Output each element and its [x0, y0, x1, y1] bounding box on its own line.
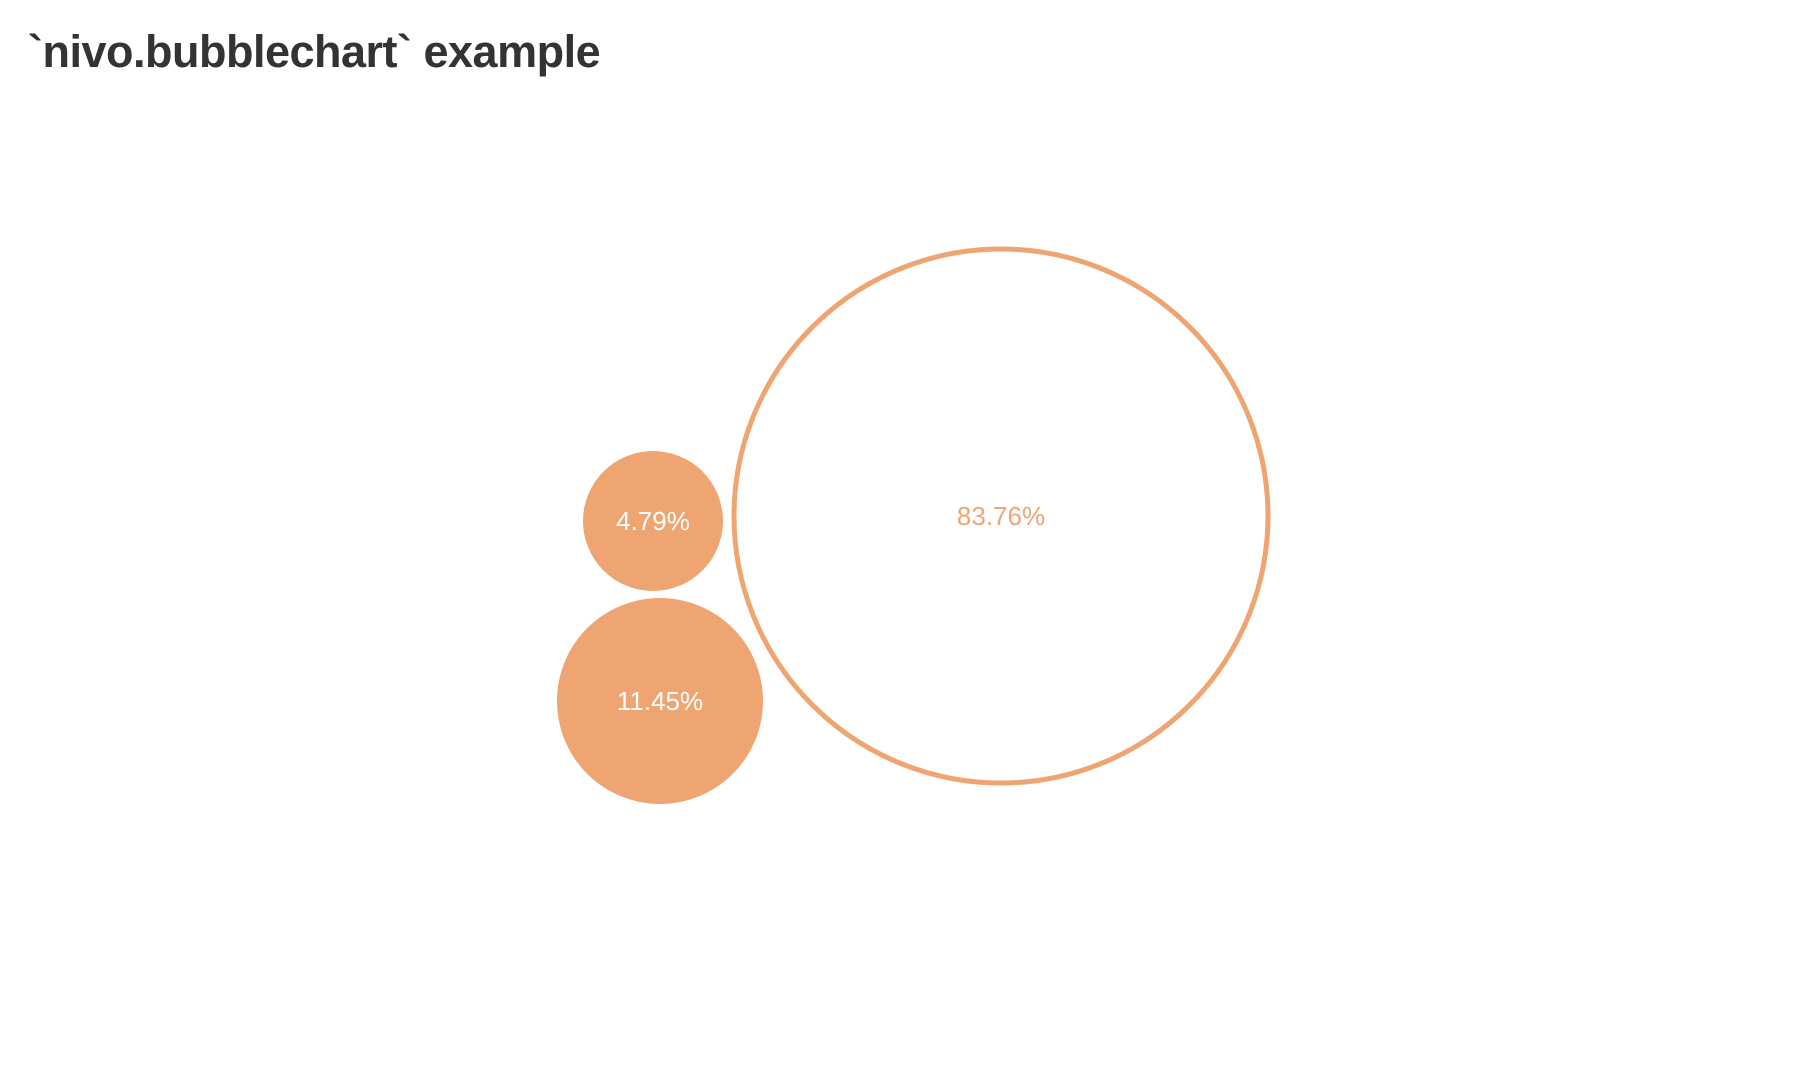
bubble-chart-canvas: 83.76%11.45%4.79%: [0, 0, 1804, 1068]
bubble-node[interactable]: 83.76%: [734, 249, 1268, 783]
bubble-label: 4.79%: [616, 506, 690, 536]
bubble-node[interactable]: 4.79%: [583, 451, 723, 591]
bubble-group: 83.76%11.45%4.79%: [557, 249, 1268, 804]
bubble-label: 83.76%: [957, 501, 1045, 531]
bubble-chart: 83.76%11.45%4.79%: [0, 0, 1804, 1068]
bubble-node[interactable]: 11.45%: [557, 598, 763, 804]
bubble-label: 11.45%: [617, 686, 703, 716]
